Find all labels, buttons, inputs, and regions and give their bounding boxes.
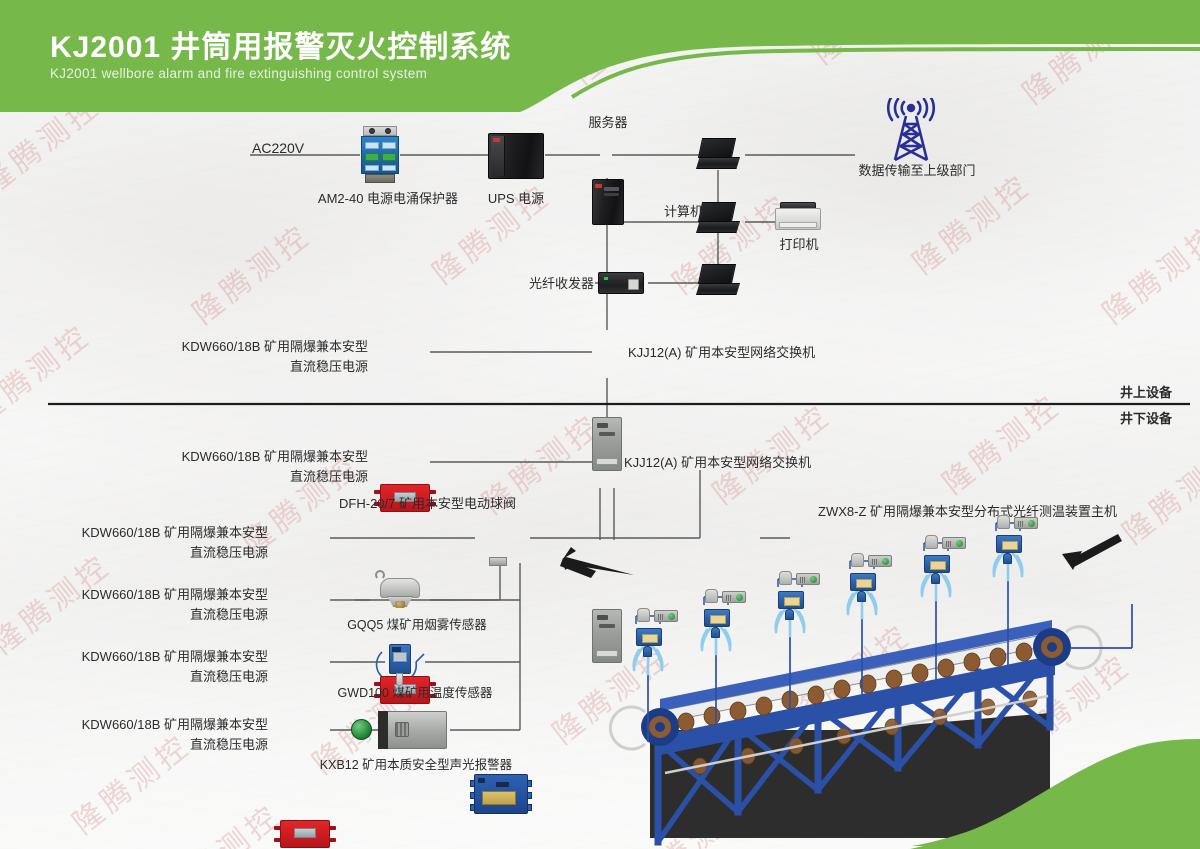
network-switch-underground-label: KJJ12(A) 矿用本安型网络交换机 <box>624 454 811 473</box>
surface-equipment-label: 井上设备 <box>1120 384 1172 403</box>
power-supply-label-line1: KDW660/18B 矿用隔爆兼本安型 <box>168 448 368 467</box>
node-smoke-sensor <box>637 608 650 622</box>
node-alarm-horn-icon <box>658 614 664 620</box>
surge-indicator <box>382 153 396 161</box>
page-title: KJ2001 井筒用报警灭火控制系统 <box>50 22 511 66</box>
surge-din-foot <box>365 174 395 183</box>
node-alarm-lamp-icon <box>882 558 889 565</box>
node-alarm-horn-icon <box>946 541 952 547</box>
temperature-sensor-label: GWD100 煤矿用温度传感器 <box>325 684 505 702</box>
surge-terminal-icon <box>385 128 391 134</box>
ball-valve-label: DFH-20/7 矿用本安型电动球阀 <box>280 495 516 514</box>
node-alarm-horn-icon <box>726 595 732 601</box>
valve-gland <box>470 804 475 811</box>
node-nozzle <box>857 591 866 602</box>
valve-gland <box>527 804 532 811</box>
switch-indicator-strip <box>597 615 608 620</box>
node-nozzle <box>785 609 794 620</box>
power-supply-gland <box>374 490 381 494</box>
server-drive-bay <box>604 187 620 191</box>
page-subtitle: KJ2001 wellbore alarm and fire extinguis… <box>50 66 427 81</box>
node-controller <box>924 555 950 573</box>
node-controller-plate <box>856 579 872 588</box>
node-controller-plate <box>710 615 726 624</box>
surge-body <box>361 136 399 174</box>
power-supply-label-line1: KDW660/18B 矿用隔爆兼本安型 <box>68 524 268 543</box>
node-smoke-sensor <box>851 553 864 567</box>
computer-screen <box>698 202 736 222</box>
power-supply-device <box>280 820 330 848</box>
ups-device <box>488 133 544 179</box>
node-alarm <box>654 610 678 622</box>
power-supply-gland <box>329 838 336 842</box>
transceiver-led-icon <box>604 277 608 280</box>
valve-ma-mark <box>478 778 485 783</box>
network-switch-underground <box>592 609 622 663</box>
node-alarm-horn-icon <box>1018 521 1024 527</box>
valve-display <box>496 782 510 787</box>
node-smoke-sensor <box>705 589 718 603</box>
power-supply-gland <box>274 826 281 830</box>
valve-nameplate <box>482 791 515 805</box>
node-controller <box>850 573 876 591</box>
alarm-light-icon <box>351 719 372 740</box>
antenna-icon <box>880 98 942 168</box>
computer-screen <box>698 138 736 158</box>
surge-protector-label: AM2-40 电源电涌保护器 <box>308 190 468 209</box>
server-device <box>592 179 624 225</box>
alarm-side-bar <box>383 711 388 749</box>
computer-base <box>696 221 740 233</box>
power-supply-window <box>294 828 315 838</box>
computer-label: 计算机 <box>664 203 703 222</box>
ac-input-label: AC220V <box>252 138 304 158</box>
switch-nameplate <box>596 458 617 465</box>
surge-label-plate <box>365 165 379 171</box>
node-controller <box>996 535 1022 553</box>
server-power-led-icon <box>595 184 602 188</box>
node-alarm <box>868 555 892 567</box>
sound-light-alarm-label: KXB12 矿用本质安全型声光报警器 <box>300 756 532 774</box>
fiber-transceiver-label: 光纤收发器 <box>498 275 594 294</box>
node-smoke-sensor <box>779 571 792 585</box>
node-nozzle <box>711 627 720 638</box>
printer-label: 打印机 <box>760 236 838 255</box>
power-supply-label-line1: KDW660/18B 矿用隔爆兼本安型 <box>68 648 268 667</box>
uplink-label: 数据传输至上级部门 <box>852 162 982 181</box>
network-switch-surface <box>592 417 622 471</box>
page-header: KJ2001 井筒用报警灭火控制系统 KJ2001 wellbore alarm… <box>0 0 1200 112</box>
node-alarm <box>942 537 966 549</box>
node-alarm-lamp-icon <box>736 594 743 601</box>
power-supply-label-line2: 直流稳压电源 <box>68 544 268 563</box>
alarm-speaker-icon <box>395 722 409 737</box>
node-controller-plate <box>642 634 658 643</box>
power-supply-gland <box>329 826 336 830</box>
power-supply-label-line2: 直流稳压电源 <box>168 468 368 487</box>
node-alarm-horn-icon <box>872 559 878 565</box>
node-controller-plate <box>784 597 800 606</box>
valve-gland <box>527 780 532 787</box>
power-supply-label-line1: KDW660/18B 矿用隔爆兼本安型 <box>68 586 268 605</box>
switch-indicator-strip <box>597 423 608 428</box>
power-supply-label-line1: KDW660/18B 矿用隔爆兼本安型 <box>168 338 368 357</box>
underground-equipment-label: 井下设备 <box>1120 410 1172 429</box>
temp-sensor-display <box>393 652 407 662</box>
surge-label-plate <box>365 142 379 149</box>
valve-actuator-base <box>489 557 507 566</box>
ball-valve-device <box>474 774 528 814</box>
printer-output-tray <box>779 222 817 228</box>
server-drive-bay <box>604 193 620 196</box>
node-alarm-lamp-icon <box>810 576 817 583</box>
node-smoke-sensor <box>925 535 938 549</box>
alarm-enclosure <box>383 711 447 749</box>
switch-nameplate <box>596 650 617 657</box>
node-controller-plate <box>1002 541 1018 550</box>
diagram-page: 隆腾测控 隆腾测控 隆腾测控 隆腾测控 隆腾测控 隆腾测控 隆腾测控 隆腾测控 … <box>0 0 1200 849</box>
node-alarm <box>722 591 746 603</box>
node-nozzle <box>643 646 652 657</box>
power-supply-label-line2: 直流稳压电源 <box>168 358 368 377</box>
power-supply-label-line1: KDW660/18B 矿用隔爆兼本安型 <box>68 716 268 735</box>
ups-label: UPS 电源 <box>468 190 564 209</box>
power-supply-label-line2: 直流稳压电源 <box>68 736 268 755</box>
node-nozzle <box>931 573 940 584</box>
surge-indicator <box>365 153 379 161</box>
smoke-sensor-lens <box>395 601 405 608</box>
node-alarm <box>796 573 820 585</box>
switch-port-strip <box>599 624 615 628</box>
surge-terminal-icon <box>369 128 375 134</box>
sensor-hook-icon <box>375 570 385 580</box>
valve-gland <box>470 792 475 799</box>
computer-base <box>696 157 740 169</box>
transceiver-rj45-port <box>628 279 639 290</box>
node-nozzle <box>1003 553 1012 564</box>
network-switch-surface-label: KJJ12(A) 矿用本安型网络交换机 <box>628 344 815 363</box>
node-alarm-lamp-icon <box>668 613 675 620</box>
server-label: 服务器 <box>560 114 656 133</box>
node-controller-plate <box>930 561 946 570</box>
ups-power-led-icon <box>493 138 500 142</box>
ups-front-panel <box>491 136 505 176</box>
smoke-sensor-dome <box>380 578 420 598</box>
node-alarm-lamp-icon <box>1028 520 1035 527</box>
node-smoke-sensor <box>997 515 1010 529</box>
node-alarm <box>1014 517 1038 529</box>
fiber-temp-host-label: ZWX8-Z 矿用隔爆兼本安型分布式光纤测温装置主机 <box>818 503 1117 522</box>
power-supply-gland <box>429 490 436 494</box>
transceiver-shell <box>598 272 644 294</box>
node-alarm-lamp-icon <box>956 540 963 547</box>
smoke-sensor-label: GQQ5 煤矿用烟雾传感器 <box>332 616 502 634</box>
power-supply-gland <box>274 838 281 842</box>
node-controller <box>778 591 804 609</box>
valve-gland <box>470 780 475 787</box>
node-alarm-horn-icon <box>800 577 806 583</box>
computer-screen <box>698 264 736 284</box>
valve-gland <box>527 792 532 799</box>
node-controller <box>704 609 730 627</box>
node-controller <box>636 628 662 646</box>
surge-label-plate <box>382 142 396 149</box>
alarm-side-bar <box>378 711 383 749</box>
power-supply-label-line2: 直流稳压电源 <box>68 606 268 625</box>
computer-base <box>696 283 740 295</box>
power-supply-label-line2: 直流稳压电源 <box>68 668 268 687</box>
surge-label-plate <box>382 165 396 171</box>
switch-port-strip <box>599 432 615 436</box>
